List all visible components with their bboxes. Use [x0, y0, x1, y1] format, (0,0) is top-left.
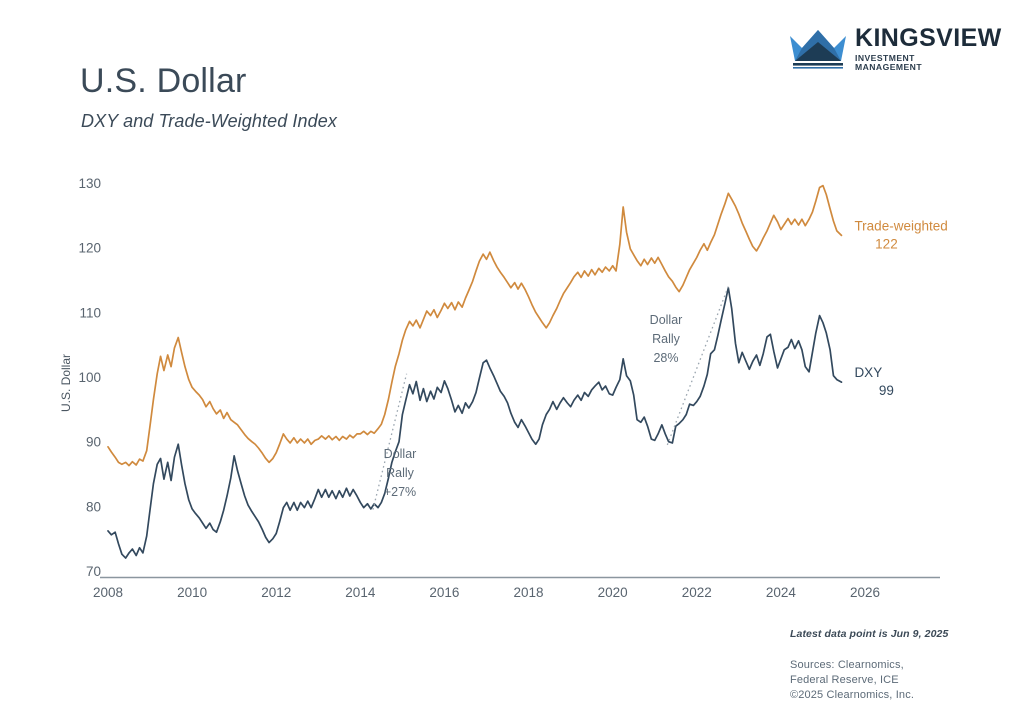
dollar-rally-2-trendline: [667, 286, 728, 444]
copyright-line: ©2025 Clearnomics, Inc.: [790, 688, 914, 703]
dollar-rally-2-text-line: Dollar: [650, 313, 683, 327]
series-label-name: DXY: [854, 365, 882, 380]
series-end-labels: Trade-weighted122DXY99: [854, 218, 947, 398]
series-label-value: 99: [879, 383, 894, 398]
dollar-rally-2-text-line: Rally: [652, 332, 681, 346]
y-tick-label: 90: [86, 435, 101, 450]
x-tick-label: 2008: [93, 585, 123, 600]
x-tick-label: 2022: [682, 585, 712, 600]
series-label-name: Trade-weighted: [854, 218, 947, 233]
y-tick-label: 80: [86, 499, 101, 514]
x-tick-label: 2012: [261, 585, 291, 600]
y-axis-tick-labels: 708090100110120130: [78, 176, 101, 579]
x-axis-tick-labels: 2008201020122014201620182020202220242026: [93, 585, 880, 600]
series-line-dxy: [108, 288, 841, 558]
series-paths: [108, 186, 841, 558]
x-tick-label: 2018: [514, 585, 544, 600]
y-tick-label: 70: [86, 564, 101, 579]
line-chart: 708090100110120130 200820102012201420162…: [0, 0, 1024, 721]
y-axis-title-text: U.S. Dollar: [59, 354, 73, 412]
y-axis-title: U.S. Dollar: [59, 354, 73, 412]
series-label-value: 122: [875, 236, 898, 251]
x-tick-label: 2024: [766, 585, 797, 600]
sources-block: Sources: Clearnomics, Federal Reserve, I…: [790, 658, 914, 703]
sources-line-1: Sources: Clearnomics,: [790, 658, 914, 673]
y-tick-label: 110: [79, 305, 101, 320]
x-tick-label: 2020: [598, 585, 628, 600]
x-tick-label: 2014: [345, 585, 376, 600]
chart-container: 708090100110120130 200820102012201420162…: [0, 0, 1024, 721]
latest-data-note: Latest data point is Jun 9, 2025: [790, 628, 948, 640]
dollar-rally-1-text-line: Dollar: [384, 447, 417, 461]
y-tick-label: 100: [78, 370, 101, 385]
dollar-rally-1-text-line: Rally: [386, 466, 415, 480]
y-tick-label: 120: [78, 241, 101, 256]
series-line-trade-weighted: [108, 186, 841, 466]
x-tick-label: 2026: [850, 585, 880, 600]
x-tick-label: 2010: [177, 585, 207, 600]
dollar-rally-1-text-line: +27%: [384, 485, 416, 499]
x-tick-label: 2016: [429, 585, 459, 600]
y-tick-label: 130: [78, 176, 101, 191]
dollar-rally-2-text-line: 28%: [653, 351, 678, 365]
sources-line-2: Federal Reserve, ICE: [790, 673, 914, 688]
